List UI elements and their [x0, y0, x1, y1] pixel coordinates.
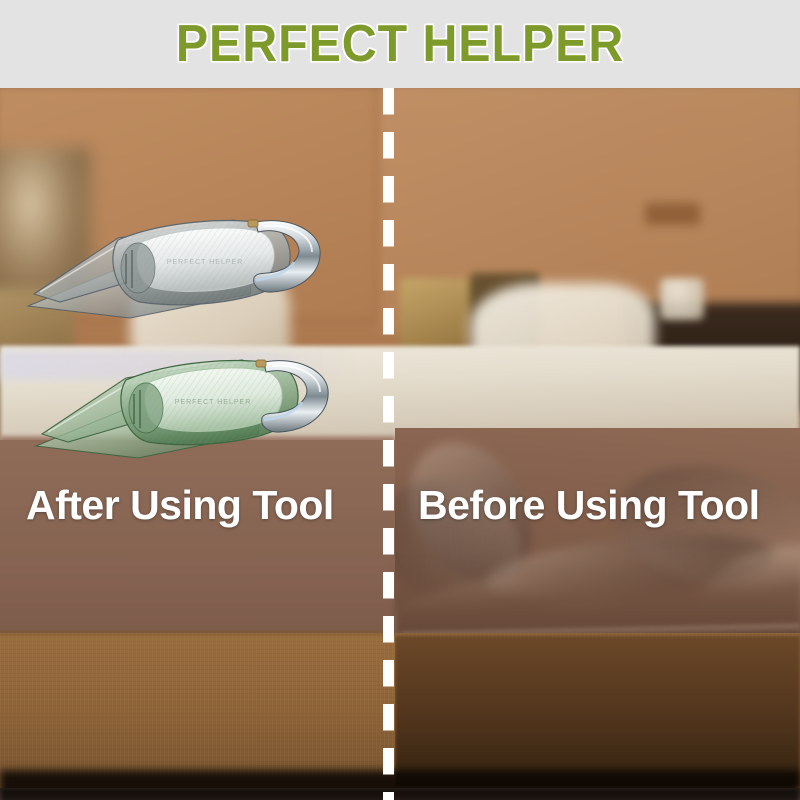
product-bed-sheet-clip-gray: PERFECT HELPER — [20, 198, 330, 328]
label-after-using-tool: After Using Tool — [26, 482, 334, 529]
floor-shading — [0, 788, 800, 800]
comparison-divider — [383, 88, 394, 800]
svg-text:PERFECT HELPER: PERFECT HELPER — [167, 259, 244, 266]
bedroom-photo: PERFECT HELPER — [0, 88, 800, 800]
smooth-sheet — [0, 440, 395, 630]
base-texture — [0, 636, 395, 786]
header-banner: PERFECT HELPER — [0, 0, 800, 88]
label-before-using-tool: Before Using Tool — [418, 482, 760, 529]
wall-art — [645, 203, 700, 225]
page-title: PERFECT HELPER — [176, 18, 624, 70]
bed-base-left — [0, 636, 395, 786]
product-comparison-graphic: PERFECT HELPER — [0, 0, 800, 800]
nightstand-object — [660, 278, 704, 320]
bed-base-right-shadow — [395, 636, 800, 786]
tiled-floor — [0, 788, 800, 800]
svg-text:PERFECT HELPER: PERFECT HELPER — [175, 399, 252, 406]
product-bed-sheet-clip-green: PERFECT HELPER — [28, 338, 338, 468]
